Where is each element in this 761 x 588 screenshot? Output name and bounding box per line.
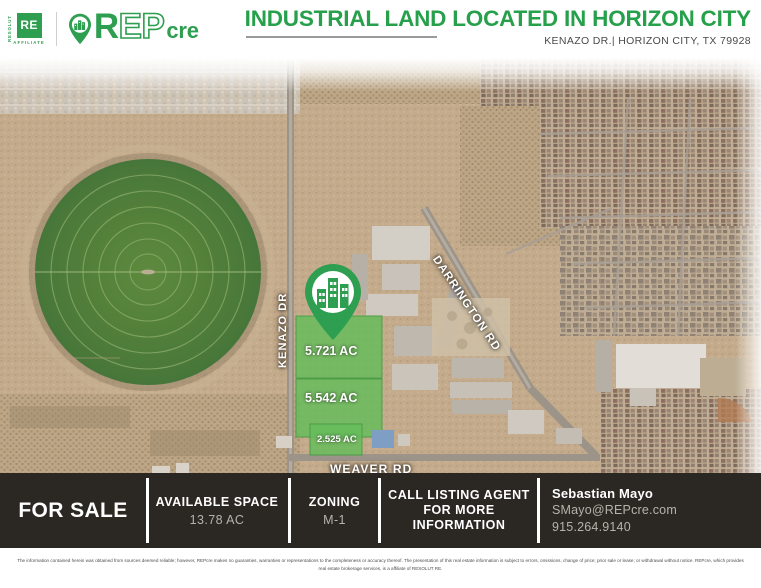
wordmark-e: E	[119, 12, 142, 42]
agent-email[interactable]: SMayo@REPcre.com	[552, 502, 677, 519]
aerial-map[interactable]: KENAZO DR DARRINGTON RD WEAVER RD 5.721 …	[0, 58, 761, 473]
agent-phone[interactable]: 915.264.9140	[552, 519, 631, 536]
call-agent-line-1: CALL LISTING AGENT	[388, 488, 530, 503]
repcre-pin-icon	[68, 13, 92, 45]
header: RESOLUT RE AFFILIATE	[0, 0, 761, 58]
footer-bar: FOR SALE AVAILABLE SPACE 13.78 AC ZONING…	[0, 473, 761, 548]
page-subtitle: KENAZO DR.| HORIZON CITY, TX 79928	[245, 35, 751, 47]
for-sale-cell: FOR SALE	[0, 473, 146, 548]
available-space-cell: AVAILABLE SPACE 13.78 AC	[146, 473, 288, 548]
disclaimer-text: The information contained herein was obt…	[0, 551, 761, 572]
logo-block[interactable]: RESOLUT RE AFFILIATE	[8, 7, 199, 51]
page-title: INDUSTRIAL LAND LOCATED IN HORIZON CITY	[245, 6, 751, 32]
available-space-label: AVAILABLE SPACE	[156, 495, 279, 510]
agent-name: Sebastian Mayo	[552, 485, 653, 502]
wordmark-p: P	[141, 12, 164, 42]
zoning-value: M-1	[323, 513, 346, 527]
flyer-page: RESOLUT RE AFFILIATE	[0, 0, 761, 588]
resolut-wordmark: RESOLUT	[8, 14, 12, 44]
title-block: INDUSTRIAL LAND LOCATED IN HORIZON CITY …	[245, 6, 751, 47]
agent-contact-cell: Sebastian Mayo SMayo@REPcre.com 915.264.…	[540, 473, 761, 548]
zoning-cell: ZONING M-1	[291, 473, 378, 548]
aerial-imagery	[0, 58, 761, 473]
for-sale-label: FOR SALE	[18, 499, 127, 523]
available-space-value: 13.78 AC	[190, 513, 245, 527]
call-agent-cell: CALL LISTING AGENT FOR MORE INFORMATION	[381, 473, 537, 548]
wordmark-r: R	[94, 12, 119, 42]
pivot-field	[29, 153, 267, 391]
wordmark-cre: cre	[166, 16, 198, 46]
repcre-wordmark: R E P cre	[94, 12, 199, 46]
resolut-affiliate-logo: RESOLUT RE AFFILIATE	[8, 9, 45, 49]
affiliate-label: AFFILIATE	[13, 40, 45, 45]
logo-divider	[56, 12, 57, 46]
call-agent-line-2: FOR MORE INFORMATION	[381, 503, 537, 533]
parcel-overlays	[296, 316, 382, 455]
zoning-label: ZONING	[309, 495, 361, 510]
re-badge: RE	[17, 13, 42, 38]
